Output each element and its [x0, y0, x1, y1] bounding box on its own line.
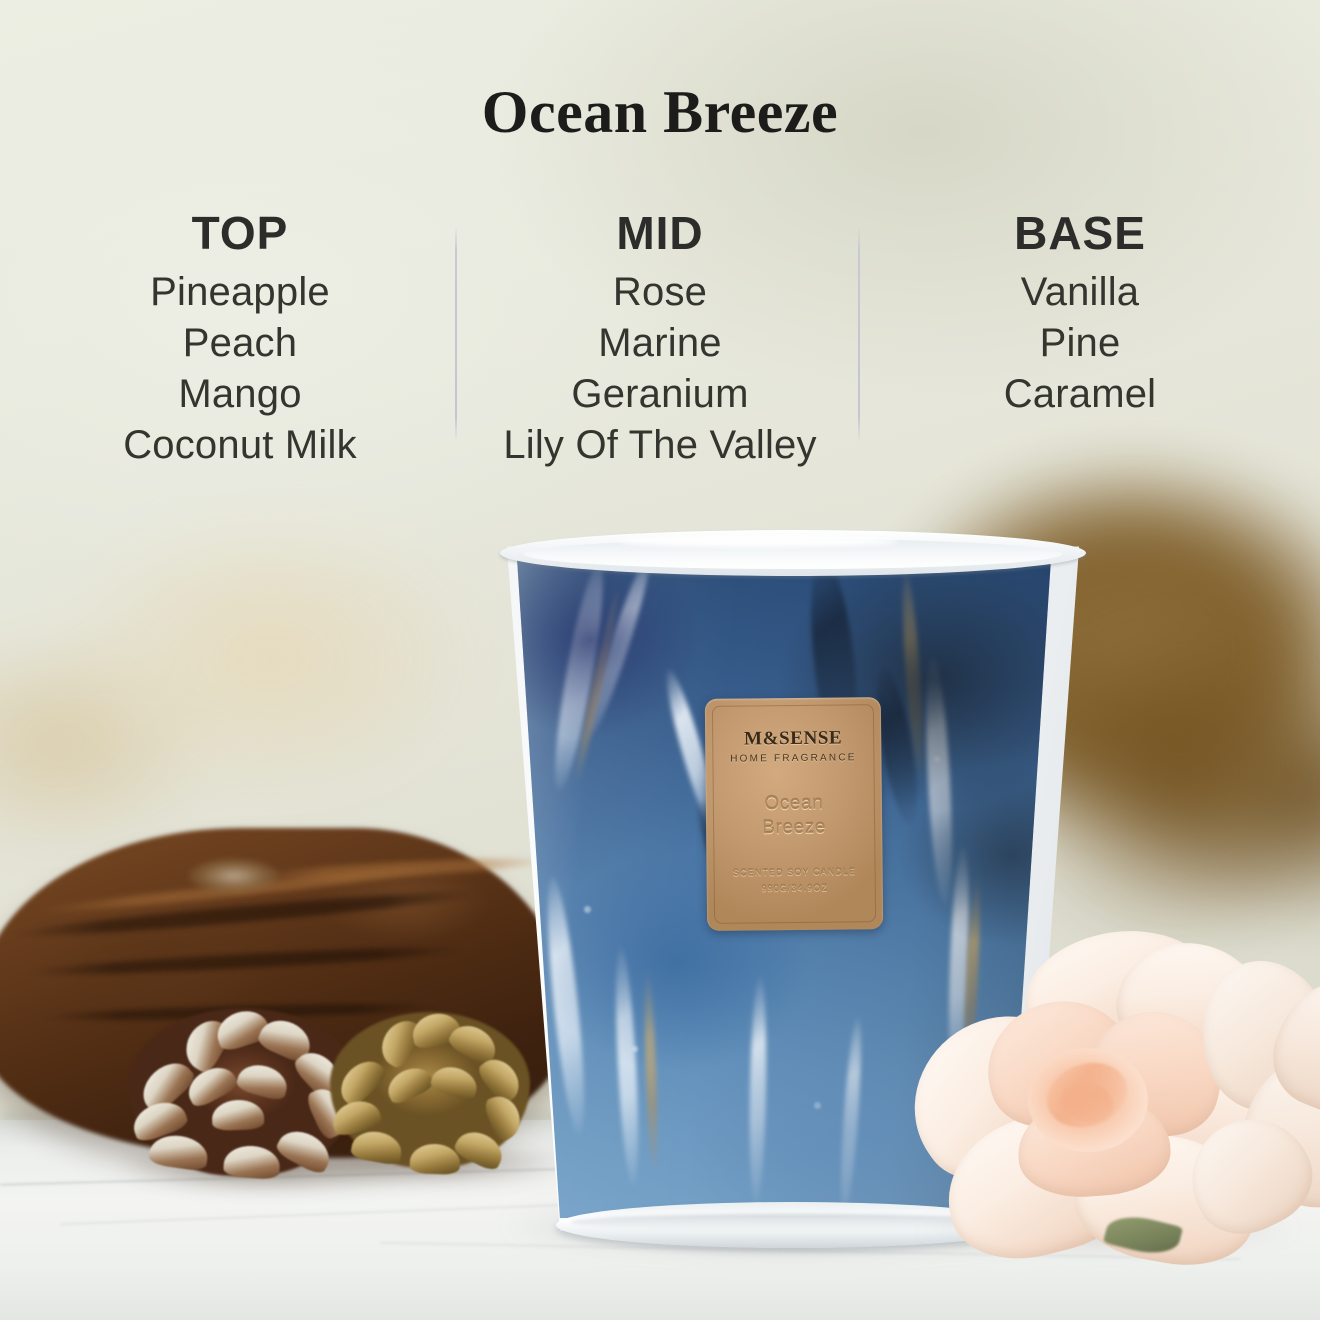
rose-flower-secondary [1208, 960, 1320, 1230]
background-warm-left [0, 470, 540, 890]
note-heading-base: BASE [880, 208, 1280, 259]
note-item: Rose [440, 267, 880, 318]
column-divider-right [858, 226, 860, 442]
note-column-top: TOP Pineapple Peach Mango Coconut Milk [40, 208, 440, 471]
note-item: Geranium [440, 369, 880, 420]
note-item: Peach [40, 318, 440, 369]
page-title: Ocean Breeze [0, 78, 1320, 147]
rim-highlight [618, 536, 898, 547]
label-product-type: SCENTED SOY CANDLE [707, 864, 883, 881]
note-item: Mango [40, 369, 440, 420]
note-column-mid: MID Rose Marine Geranium Lily Of The Val… [440, 208, 880, 471]
note-item: Vanilla [880, 267, 1280, 318]
note-item: Pineapple [40, 267, 440, 318]
label-scent-line2: Breeze [762, 816, 826, 841]
label-weight: 990G/34.9OZ [707, 880, 883, 897]
note-item: Marine [440, 318, 880, 369]
label-brand-subtitle: HOME FRAGRANCE [730, 752, 856, 764]
label-scent-name: Ocean Breeze [762, 792, 826, 841]
product-infographic: Ocean Breeze TOP Pineapple Peach Mango C… [0, 0, 1320, 1320]
column-divider-left [455, 226, 457, 442]
note-heading-mid: MID [440, 208, 880, 259]
note-column-base: BASE Vanilla Pine Caramel [880, 208, 1280, 420]
note-item: Pine [880, 318, 1280, 369]
note-item: Coconut Milk [40, 420, 440, 471]
label-scent-line1: Ocean [762, 792, 826, 817]
label-footer: SCENTED SOY CANDLE 990G/34.9OZ [707, 864, 883, 896]
pinecone-frosted [128, 1008, 358, 1176]
note-item: Caramel [880, 369, 1280, 420]
wood-knot [188, 858, 280, 894]
product-label: M&SENSE HOME FRAGRANCE Ocean Breeze SCEN… [705, 697, 883, 931]
fragrance-notes: TOP Pineapple Peach Mango Coconut Milk M… [0, 208, 1320, 471]
note-heading-top: TOP [40, 208, 440, 259]
label-brand: M&SENSE [744, 727, 842, 750]
note-item: Lily Of The Valley [440, 420, 880, 471]
